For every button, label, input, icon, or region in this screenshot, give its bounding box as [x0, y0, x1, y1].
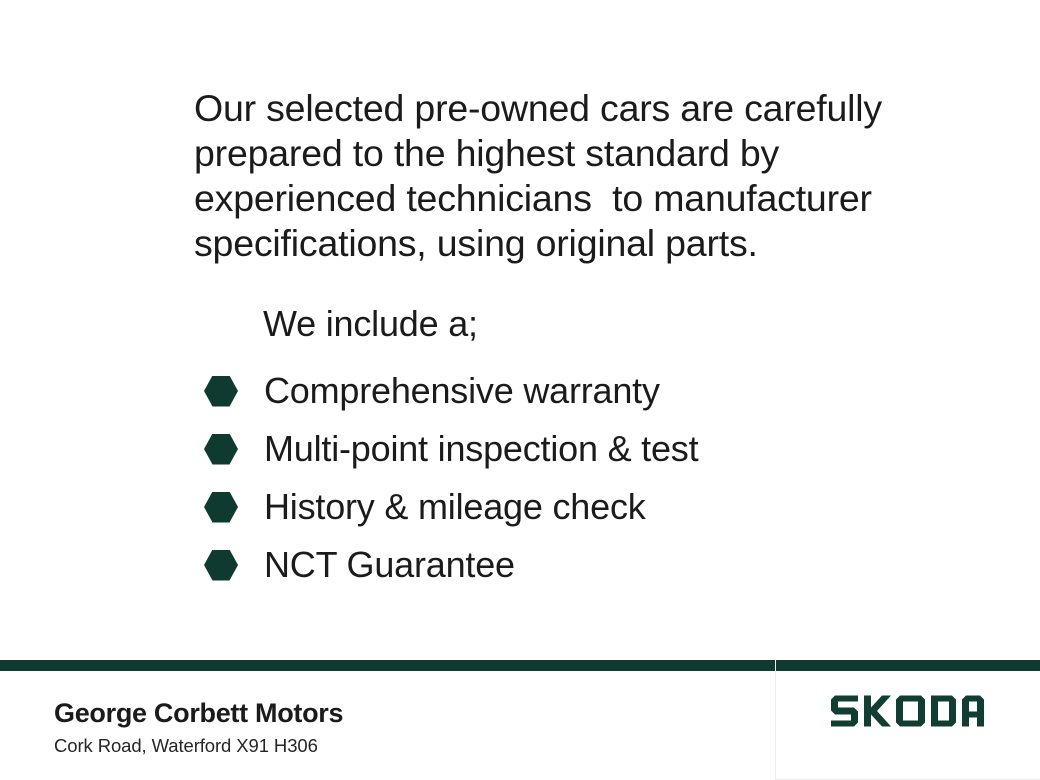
hexagon-bullet-icon: [204, 376, 238, 407]
list-item-label: Comprehensive warranty: [264, 371, 660, 411]
include-lead-in: We include a;: [263, 302, 478, 346]
dealer-address: Cork Road, Waterford X91 H306: [54, 734, 318, 758]
hexagon-bullet-icon: [204, 434, 238, 465]
skoda-wordmark-icon: [830, 694, 988, 728]
list-item-label: NCT Guarantee: [264, 545, 515, 585]
hexagon-bullet-icon: [204, 550, 238, 581]
hexagon-bullet-icon: [204, 492, 238, 523]
list-item: Multi-point inspection & test: [204, 420, 964, 478]
slide-canvas: Our selected pre-owned cars are carefull…: [0, 0, 1040, 780]
list-item-label: Multi-point inspection & test: [264, 429, 698, 469]
list-item: Comprehensive warranty: [204, 362, 964, 420]
inclusions-list: Comprehensive warranty Multi-point inspe…: [204, 362, 964, 594]
list-item: NCT Guarantee: [204, 536, 964, 594]
intro-paragraph: Our selected pre-owned cars are carefull…: [194, 86, 894, 266]
list-item-label: History & mileage check: [264, 487, 646, 527]
dealer-name: George Corbett Motors: [54, 697, 343, 729]
list-item: History & mileage check: [204, 478, 964, 536]
